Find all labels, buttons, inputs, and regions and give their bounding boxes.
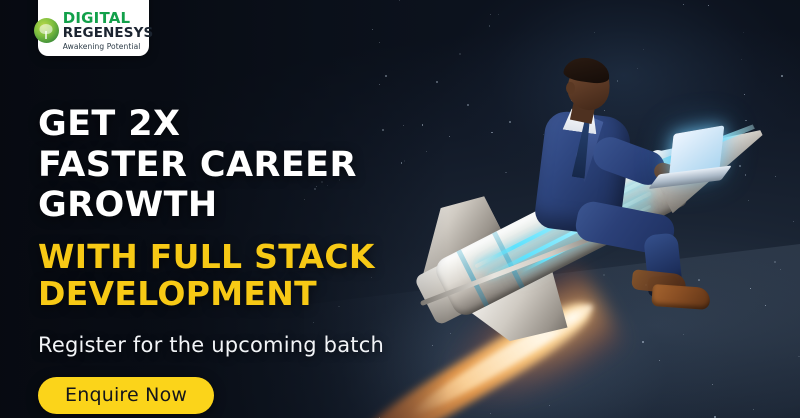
brand-name-primary: DIGITAL — [63, 11, 154, 26]
promo-copy: GET 2X FASTER CAREER GROWTH WITH FULL ST… — [38, 104, 508, 414]
brand-logo[interactable]: DIGITAL REGENESYS Awakening Potential — [38, 0, 149, 56]
tree-emblem-icon — [34, 18, 59, 43]
headline-line-1: GET 2X — [38, 104, 180, 144]
subheading: Register for the upcoming batch — [38, 333, 508, 357]
promo-banner: DIGITAL REGENESYS Awakening Potential GE… — [0, 0, 800, 418]
headline-highlight: WITH FULL STACK DEVELOPMENT — [38, 238, 508, 313]
headline-highlight-line-1: WITH FULL STACK — [38, 237, 375, 276]
brand-name-secondary: REGENESYS — [63, 27, 154, 41]
headline-line-2: FASTER CAREER GROWTH — [38, 145, 508, 226]
enquire-now-button[interactable]: Enquire Now — [38, 377, 214, 414]
tree-glyph — [39, 23, 54, 39]
headline: GET 2X FASTER CAREER GROWTH — [38, 104, 508, 226]
brand-tagline: Awakening Potential — [63, 43, 154, 51]
headline-highlight-line-2: DEVELOPMENT — [38, 275, 508, 313]
